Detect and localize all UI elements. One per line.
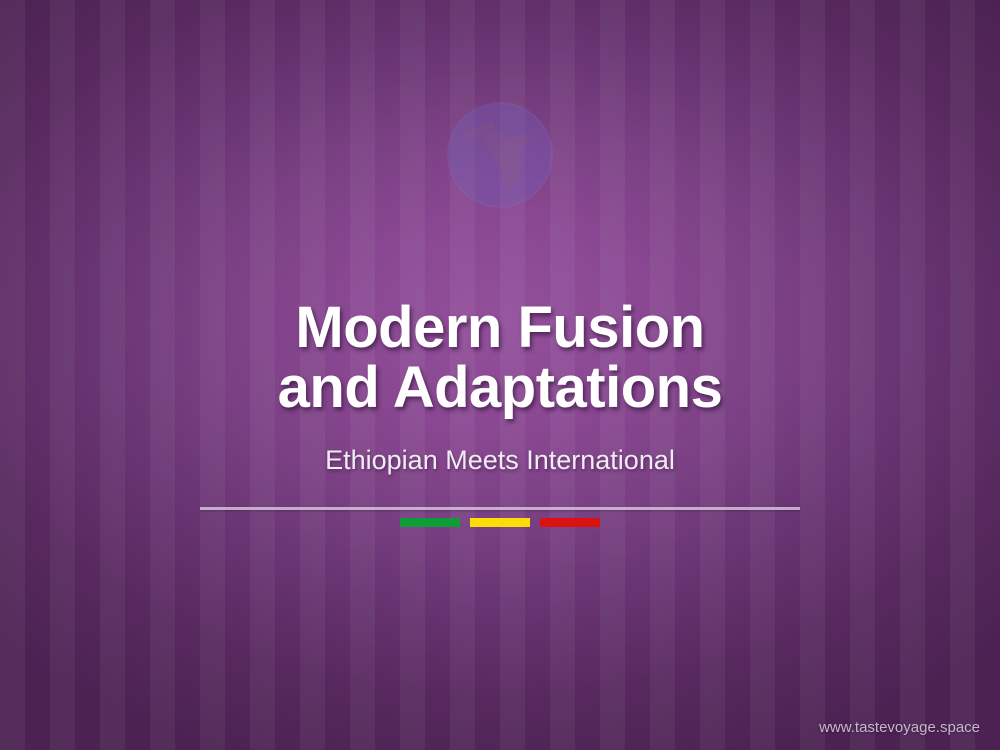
flag-bar-red: [540, 518, 600, 527]
flag-bar-green: [400, 518, 460, 527]
title-line-1: Modern Fusion: [0, 298, 1000, 358]
divider-rule: [200, 507, 800, 510]
flag-bar-yellow: [470, 518, 530, 527]
footer-url: www.tastevoyage.space: [819, 719, 980, 736]
page-title: Modern Fusion and Adaptations: [0, 298, 1000, 418]
ethiopian-flag-bars: [400, 518, 600, 527]
presentation-slide: Modern Fusion and Adaptations Ethiopian …: [0, 0, 1000, 750]
slide-subtitle: Ethiopian Meets International: [0, 444, 1000, 476]
title-line-2: and Adaptations: [0, 358, 1000, 418]
